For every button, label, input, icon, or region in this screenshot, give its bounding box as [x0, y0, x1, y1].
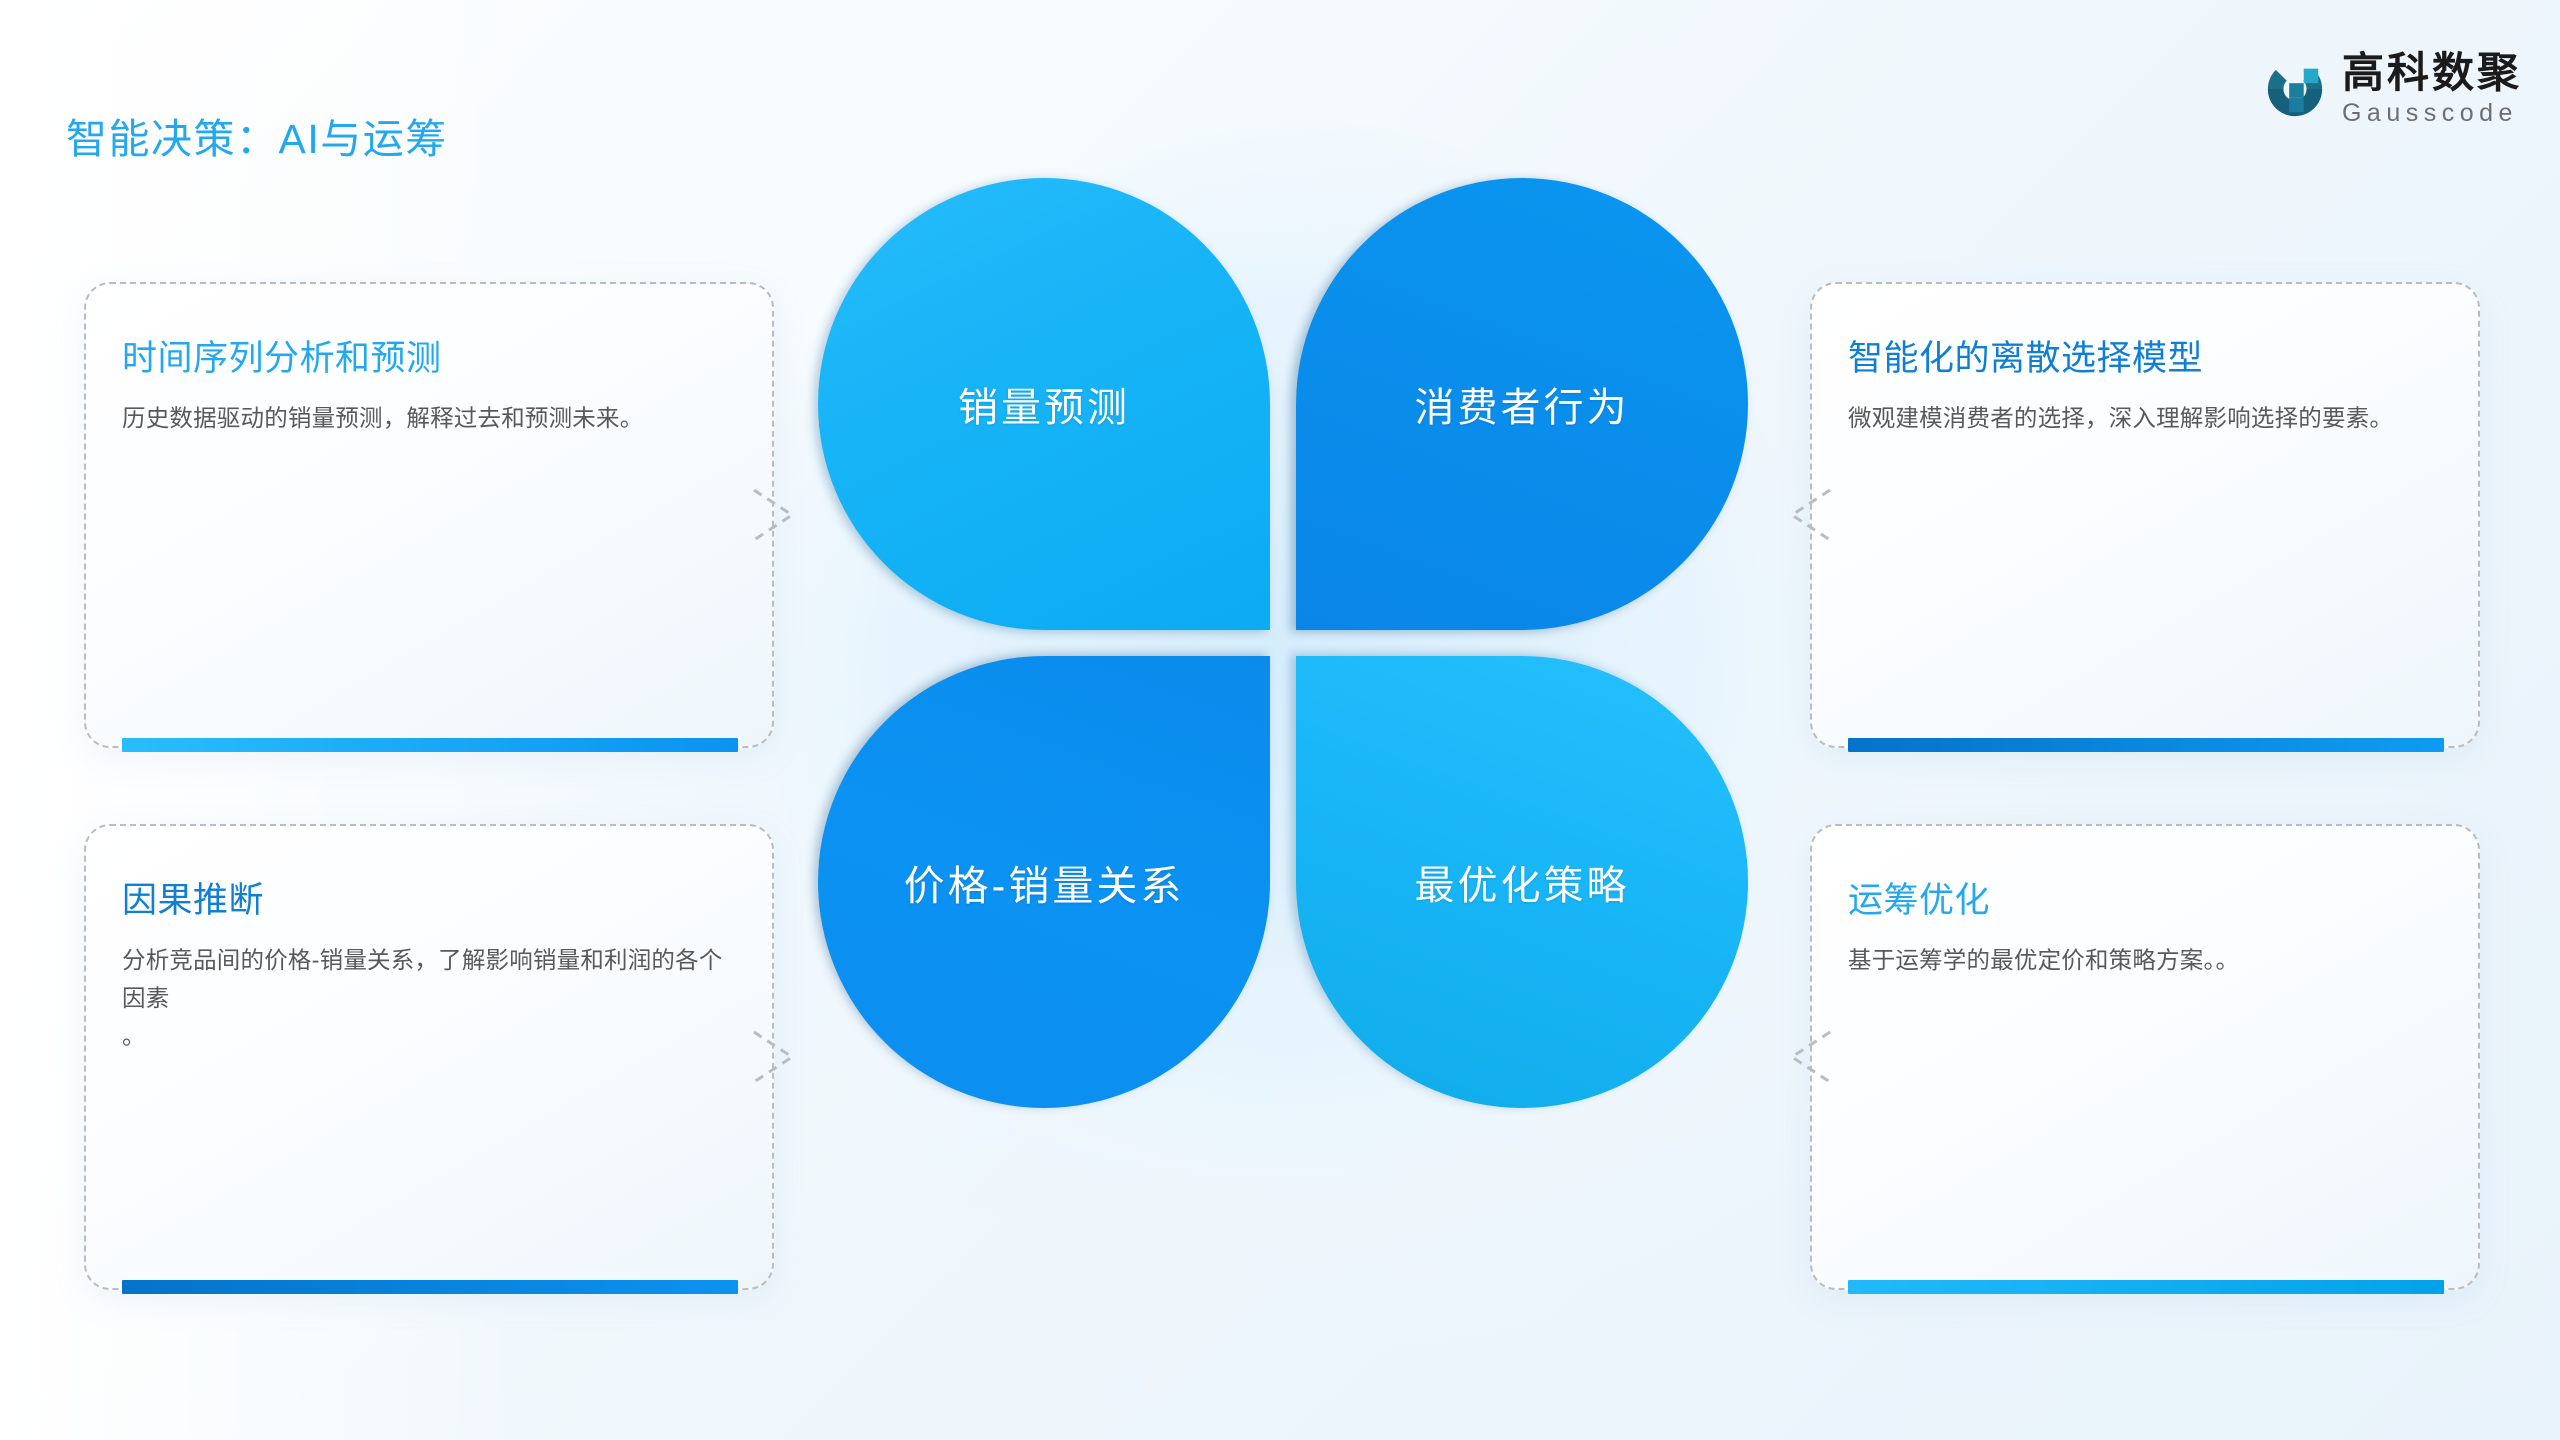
gausscode-logo-mark-icon — [2264, 58, 2326, 120]
card-time-series[interactable]: 时间序列分析和预测 历史数据驱动的销量预测，解释过去和预测未来。 — [84, 282, 774, 748]
logo-name-en: Gausscode — [2342, 101, 2522, 126]
card-title-time-series: 时间序列分析和预测 — [122, 330, 738, 381]
card-title-causal-inference: 因果推断 — [122, 872, 738, 923]
card-body-operations-optimization: 基于运筹学的最优定价和策略方案。。 — [1848, 941, 2444, 979]
card-operations-optimization[interactable]: 运筹优化 基于运筹学的最优定价和策略方案。。 — [1810, 824, 2480, 1290]
petal-sales-forecast[interactable]: 销量预测 — [818, 178, 1270, 630]
card-title-operations-optimization: 运筹优化 — [1848, 872, 2444, 923]
chevron-left-icon — [1782, 1026, 1838, 1088]
card-accent-bar — [122, 738, 738, 752]
petal-label-sales-forecast: 销量预测 — [958, 375, 1130, 433]
card-accent-bar — [122, 1280, 738, 1294]
brand-logo: 高科数聚 Gausscode — [2264, 52, 2522, 126]
card-body-discrete-choice: 微观建模消费者的选择，深入理解影响选择的要素。 — [1848, 399, 2444, 437]
card-body-time-series: 历史数据驱动的销量预测，解释过去和预测未来。 — [122, 399, 738, 437]
petal-label-consumer-behavior: 消费者行为 — [1415, 375, 1630, 433]
logo-wordmark: 高科数聚 Gausscode — [2342, 52, 2522, 126]
page-title: 智能决策：AI与运筹 — [66, 105, 448, 165]
petal-consumer-behavior[interactable]: 消费者行为 — [1296, 178, 1748, 630]
card-causal-inference[interactable]: 因果推断 分析竞品间的价格-销量关系，了解影响销量和利润的各个因素 。 — [84, 824, 774, 1290]
card-title-discrete-choice: 智能化的离散选择模型 — [1848, 330, 2444, 381]
card-body-causal-inference: 分析竞品间的价格-销量关系，了解影响销量和利润的各个因素 。 — [122, 941, 738, 1055]
petal-label-optimal-strategy: 最优化策略 — [1415, 853, 1630, 911]
card-content: 时间序列分析和预测 历史数据驱动的销量预测，解释过去和预测未来。 — [122, 330, 738, 437]
logo-name-cn: 高科数聚 — [2342, 52, 2522, 94]
petal-price-sales-relation[interactable]: 价格-销量关系 — [818, 656, 1270, 1108]
chevron-right-icon — [746, 484, 802, 546]
card-content: 智能化的离散选择模型 微观建模消费者的选择，深入理解影响选择的要素。 — [1848, 330, 2444, 437]
petal-optimal-strategy[interactable]: 最优化策略 — [1296, 656, 1748, 1108]
card-accent-bar — [1848, 1280, 2444, 1294]
card-discrete-choice[interactable]: 智能化的离散选择模型 微观建模消费者的选择，深入理解影响选择的要素。 — [1810, 282, 2480, 748]
chevron-left-icon — [1782, 484, 1838, 546]
card-content: 运筹优化 基于运筹学的最优定价和策略方案。。 — [1848, 872, 2444, 979]
petal-label-price-sales-relation: 价格-销量关系 — [904, 852, 1185, 912]
four-petal-diagram: 销量预测 消费者行为 价格-销量关系 最优化策略 — [818, 178, 1748, 1108]
chevron-right-icon — [746, 1026, 802, 1088]
card-accent-bar — [1848, 738, 2444, 752]
slide-canvas: 智能决策：AI与运筹 高科数聚 Gausscode 销量预测 消费者行为 价格-… — [0, 0, 2560, 1440]
card-content: 因果推断 分析竞品间的价格-销量关系，了解影响销量和利润的各个因素 。 — [122, 872, 738, 1055]
